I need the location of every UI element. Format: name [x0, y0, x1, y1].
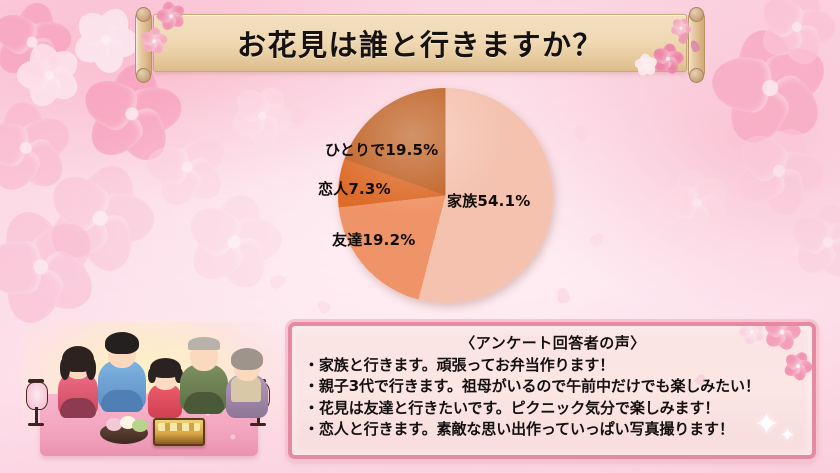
pie-label-lover: 恋人7.3%	[318, 178, 391, 199]
bento-box	[153, 418, 205, 446]
pie-label-alone: ひとりで19.5%	[325, 139, 438, 160]
scroll-cap-icon	[689, 68, 704, 83]
sakura-blossom-icon	[634, 53, 659, 78]
person-father	[96, 330, 148, 416]
slide-canvas: お花見は誰と行きますか？ 家族54.1% 友達19.2% ひとりで19.5% 恋…	[0, 0, 840, 473]
person-mother	[56, 344, 100, 416]
respondent-comments-box: 〈アンケート回答者の声〉 ・家族と行きます。頑張ってお弁当作ります！ ・親子3代…	[288, 322, 816, 459]
comment-item: ・花見は友達と行きたいです。ピクニック気分で楽しみます！	[304, 398, 802, 419]
comment-item: ・親子3代で行きます。祖母がいるので午前中だけでも楽しみたい！	[304, 376, 802, 397]
hanami-family-illustration	[22, 322, 280, 462]
mochi-icon	[132, 419, 148, 432]
comments-heading: 〈アンケート回答者の声〉	[304, 332, 802, 353]
comment-item: ・家族と行きます。頑張ってお弁当作ります！	[304, 355, 802, 376]
person-grandmother	[224, 346, 270, 418]
title-banner: お花見は誰と行きますか？	[135, 10, 705, 78]
pie-label-family: 家族54.1%	[447, 190, 530, 211]
scroll-cap-icon	[689, 7, 704, 22]
pie-label-friends: 友達19.2%	[332, 229, 415, 250]
person-grandfather	[178, 332, 230, 418]
paper-lantern-icon	[26, 378, 46, 426]
page-title: お花見は誰と行きますか？	[237, 22, 603, 64]
comment-item: ・恋人と行きます。素敵な思い出作っていっぱい写真撮ります！	[304, 419, 802, 440]
banner-plate: お花見は誰と行きますか？	[153, 14, 687, 72]
scroll-cap-icon	[136, 7, 151, 22]
scroll-cap-icon	[136, 68, 151, 83]
